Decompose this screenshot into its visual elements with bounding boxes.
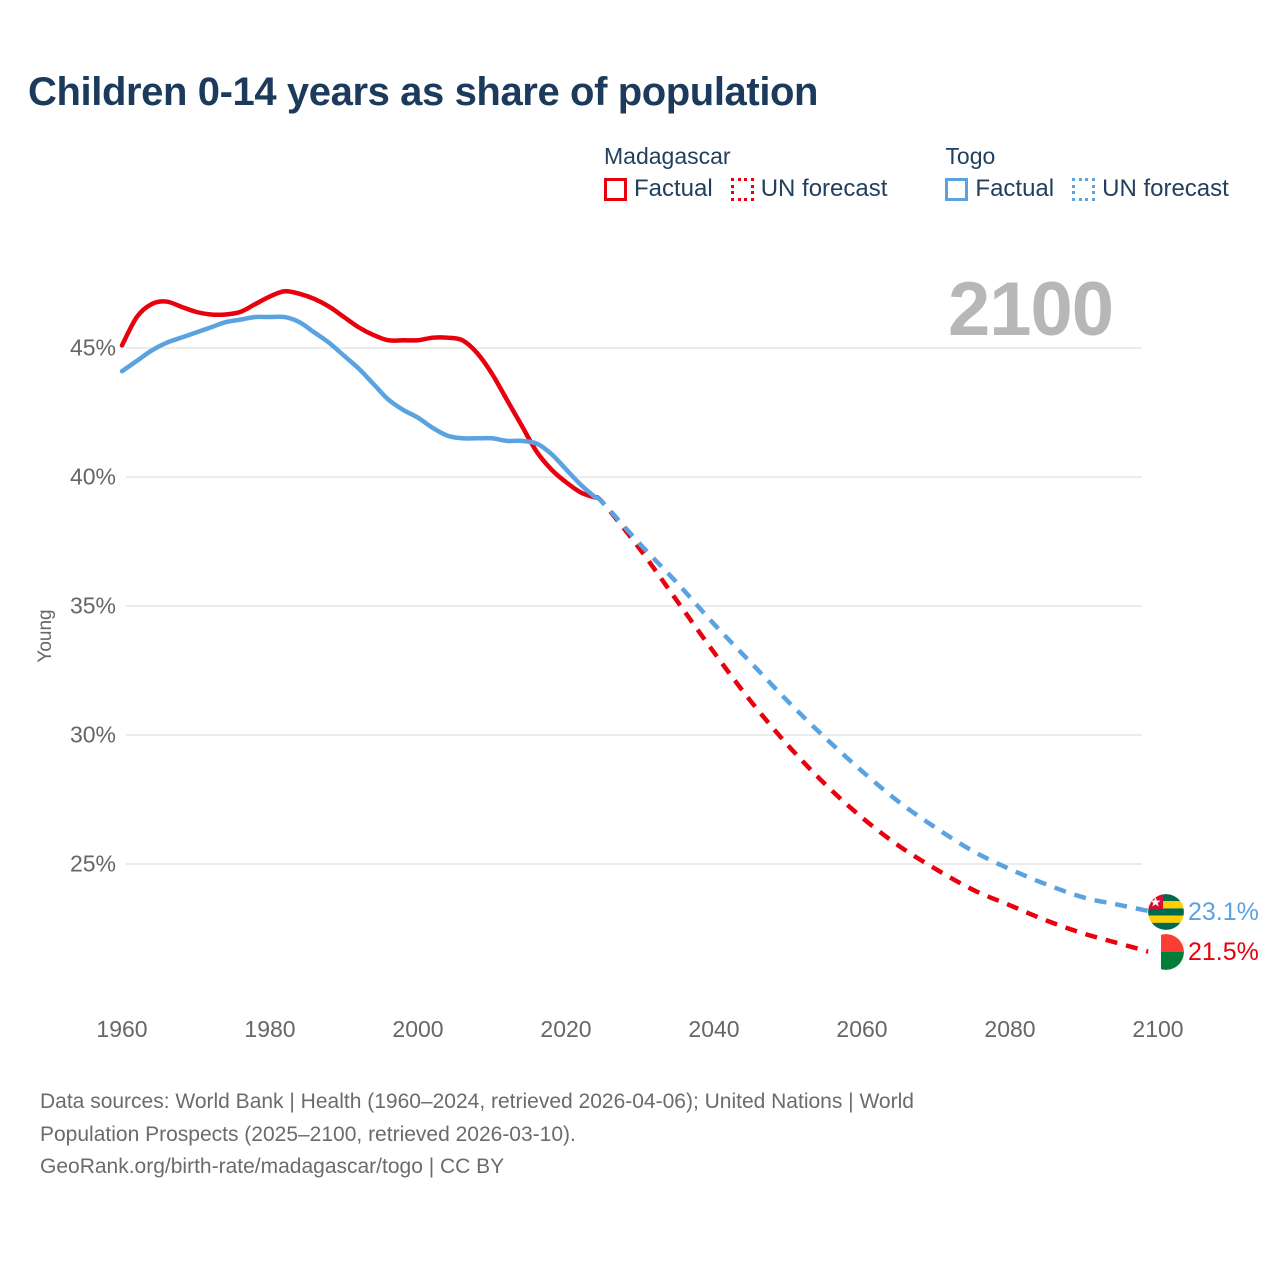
footer-sources: Data sources: World Bank | Health (1960–… xyxy=(40,1086,1180,1184)
footer-line-1: Data sources: World Bank | Health (1960–… xyxy=(40,1086,1180,1119)
end-label-madagascar: 21.5% xyxy=(1148,934,1259,970)
x-tick-label: 2060 xyxy=(812,1016,912,1043)
y-tick-label: 35% xyxy=(36,593,116,620)
legend-item-togo-forecast[interactable]: UN forecast xyxy=(1072,175,1229,203)
legend-item-madagascar-factual[interactable]: Factual xyxy=(604,175,713,203)
legend-swatch-dotted-icon xyxy=(731,178,754,201)
legend-swatch-dotted-icon xyxy=(1072,178,1095,201)
legend-country-label: Togo xyxy=(945,144,1228,169)
legend-item-madagascar-forecast[interactable]: UN forecast xyxy=(731,175,888,203)
series-line-forecast-madagascar xyxy=(596,497,1158,954)
legend-group-madagascar: Madagascar Factual UN forecast xyxy=(604,144,887,203)
chart-legend: Madagascar Factual UN forecast Togo Fact… xyxy=(604,144,1229,203)
togo-flag-icon xyxy=(1148,894,1184,930)
footer-line-2: Population Prospects (2025–2100, retriev… xyxy=(40,1119,1180,1152)
legend-country-label: Madagascar xyxy=(604,144,887,169)
chart-page: Children 0-14 years as share of populati… xyxy=(0,0,1280,1280)
x-tick-label: 2080 xyxy=(960,1016,1060,1043)
end-label-togo: 23.1% xyxy=(1148,894,1259,930)
legend-swatch-solid-icon xyxy=(604,178,627,201)
madagascar-flag-icon xyxy=(1148,934,1184,970)
legend-group-togo: Togo Factual UN forecast xyxy=(945,144,1228,203)
x-tick-label: 2040 xyxy=(664,1016,764,1043)
legend-item-togo-factual[interactable]: Factual xyxy=(945,175,1054,203)
legend-entry-label: UN forecast xyxy=(1102,175,1229,203)
y-tick-label: 25% xyxy=(36,851,116,878)
x-tick-label: 1980 xyxy=(220,1016,320,1043)
series-line-forecast-togo xyxy=(596,498,1158,913)
y-tick-label: 45% xyxy=(36,335,116,362)
footer-line-3: GeoRank.org/birth-rate/madagascar/togo |… xyxy=(40,1151,1180,1184)
y-tick-label: 40% xyxy=(36,464,116,491)
legend-entry-label: Factual xyxy=(634,175,713,203)
page-title: Children 0-14 years as share of populati… xyxy=(28,70,818,115)
series-line-factual-madagascar xyxy=(122,291,596,497)
series-line-factual-togo xyxy=(122,317,596,498)
legend-entry-label: UN forecast xyxy=(761,175,888,203)
end-label-value: 21.5% xyxy=(1188,938,1259,967)
x-tick-label: 2020 xyxy=(516,1016,616,1043)
legend-swatch-solid-icon xyxy=(945,178,968,201)
end-label-value: 23.1% xyxy=(1188,898,1259,927)
x-tick-label: 1960 xyxy=(72,1016,172,1043)
legend-entry-label: Factual xyxy=(975,175,1054,203)
y-tick-label: 30% xyxy=(36,722,116,749)
year-watermark: 2100 xyxy=(948,272,1113,348)
x-tick-label: 2100 xyxy=(1108,1016,1208,1043)
x-tick-label: 2000 xyxy=(368,1016,468,1043)
